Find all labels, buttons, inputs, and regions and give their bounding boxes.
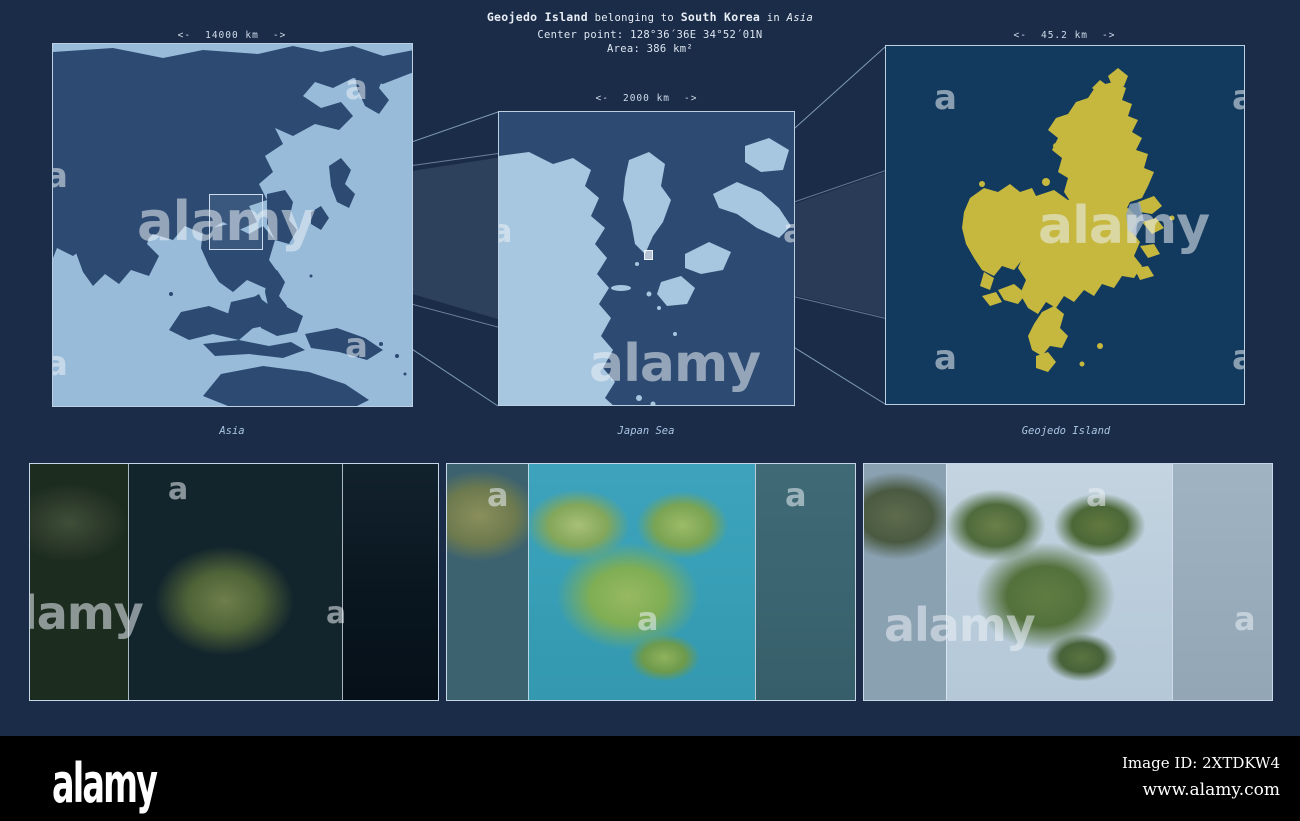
page-title: Geojedo Island belonging to South Korea … bbox=[0, 10, 1300, 24]
scale-label-1: 14000 km bbox=[205, 30, 259, 41]
map-panel-geojedo-island[interactable]: a a a a alamy bbox=[885, 45, 1245, 405]
imagery-strip-center bbox=[528, 464, 755, 700]
imagery-strip-left bbox=[447, 464, 528, 700]
scalebar-panel-1: <- 14000 km -> bbox=[52, 30, 412, 41]
imagery-strip-right bbox=[342, 464, 439, 700]
imagery-divider-right bbox=[755, 464, 756, 700]
title-connector-1: belonging to bbox=[595, 12, 674, 24]
title-subject: Geojedo Island bbox=[487, 10, 588, 24]
caption-panel-geojedo: Geojedo Island bbox=[936, 425, 1196, 437]
map-figure: Geojedo Island belonging to South Korea … bbox=[0, 0, 1300, 736]
imagery-divider-right bbox=[1172, 464, 1173, 700]
scale-arrow-left-1: <- bbox=[178, 30, 191, 41]
title-continent: Asia bbox=[787, 12, 814, 24]
map-panel-japan-sea[interactable]: a a alamy bbox=[498, 111, 795, 406]
imagery-panel-physical[interactable]: alamy a a bbox=[863, 463, 1273, 701]
caption-panel-asia: Asia bbox=[102, 425, 362, 437]
imagery-divider-left bbox=[128, 464, 129, 700]
imagery-divider-left bbox=[946, 464, 947, 700]
extent-highlight-panel-1 bbox=[209, 194, 263, 250]
caption-panel-japan-sea: Japan Sea bbox=[516, 425, 776, 437]
title-country: South Korea bbox=[681, 10, 760, 24]
scale-arrow-right-2: -> bbox=[684, 93, 697, 104]
alamy-logo: alamy bbox=[52, 752, 156, 815]
imagery-strip-left bbox=[864, 464, 946, 700]
scalebar-panel-3: <- 45.2 km -> bbox=[885, 30, 1244, 41]
imagery-panel-topographic[interactable]: a a a bbox=[446, 463, 856, 701]
alamy-website-text: www.alamy.com bbox=[1143, 780, 1281, 800]
scalebar-panel-2: <- 2000 km -> bbox=[498, 93, 795, 104]
imagery-divider-left bbox=[528, 464, 529, 700]
alamy-footer-bar: alamy Image ID: 2XTDKW4 www.alamy.com bbox=[0, 736, 1300, 821]
imagery-strip-center bbox=[128, 464, 342, 700]
imagery-panel-satellite[interactable]: alamy a a bbox=[29, 463, 439, 701]
scale-label-3: 45.2 km bbox=[1041, 30, 1088, 41]
screenshot-root: Geojedo Island belonging to South Korea … bbox=[0, 0, 1300, 821]
scale-arrow-right-3: -> bbox=[1102, 30, 1115, 41]
title-connector-2: in bbox=[767, 12, 780, 24]
imagery-strip-center bbox=[946, 464, 1172, 700]
map-panel-asia[interactable]: a a alamy a a bbox=[52, 43, 413, 407]
scale-arrow-right-1: -> bbox=[273, 30, 286, 41]
scale-label-2: 2000 km bbox=[623, 93, 670, 104]
imagery-strip-left bbox=[30, 464, 128, 700]
imagery-strip-right bbox=[755, 464, 856, 700]
scale-arrow-left-3: <- bbox=[1014, 30, 1027, 41]
imagery-divider-right bbox=[342, 464, 343, 700]
image-id-text: Image ID: 2XTDKW4 bbox=[1122, 754, 1280, 772]
island-location-marker bbox=[644, 250, 653, 260]
scale-arrow-left-2: <- bbox=[596, 93, 609, 104]
imagery-strip-right bbox=[1172, 464, 1273, 700]
geojedo-island-svg bbox=[886, 46, 1245, 405]
